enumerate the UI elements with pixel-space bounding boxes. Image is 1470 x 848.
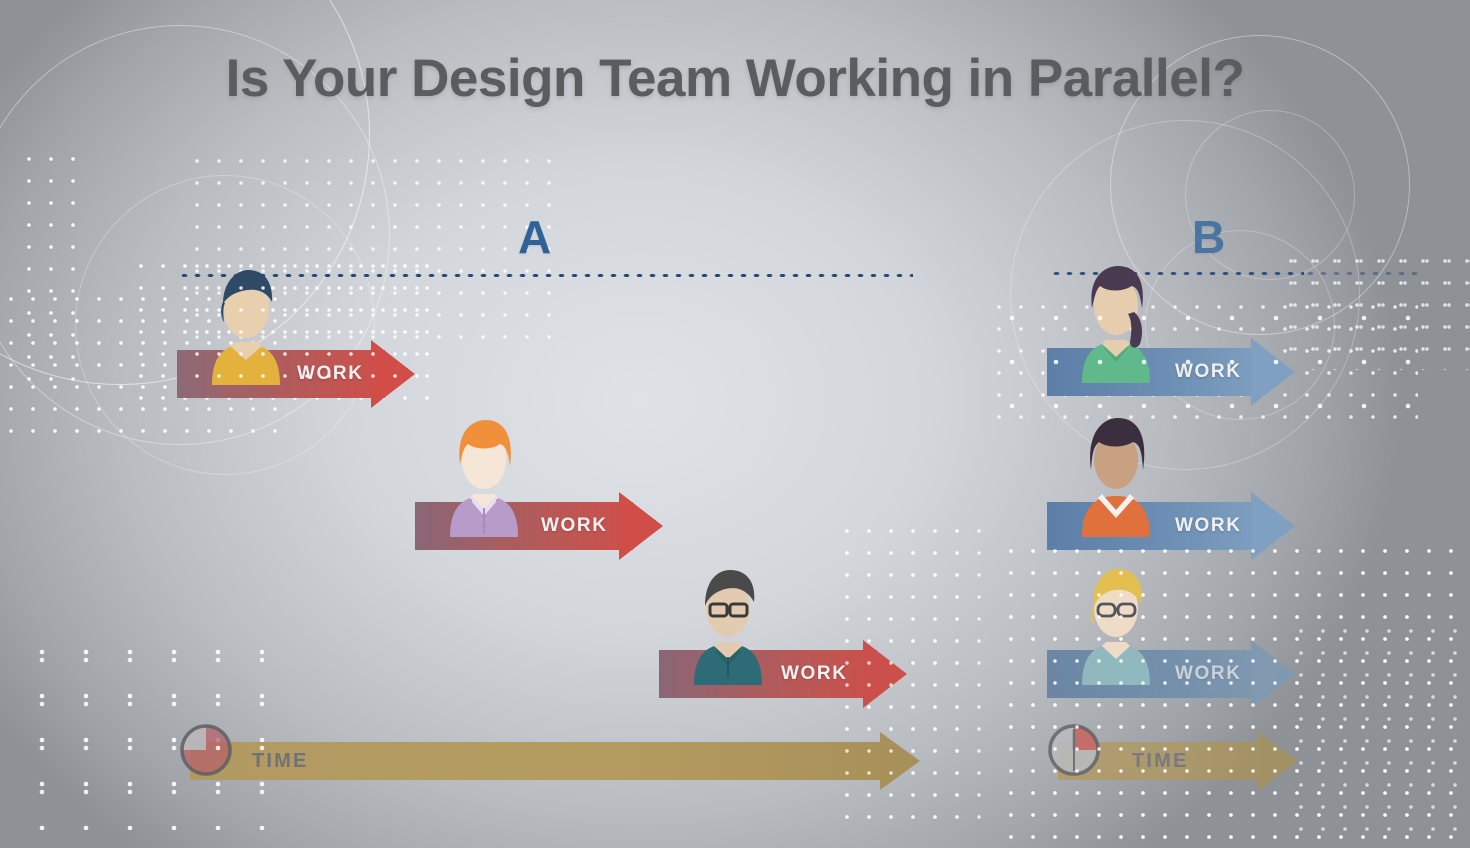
avatar-a1 bbox=[190, 260, 302, 385]
time-arrow-a: TIME bbox=[190, 742, 920, 780]
worker-row-b3: WORK bbox=[1060, 560, 1360, 690]
clock-icon-a bbox=[178, 722, 234, 778]
clock-icon-b bbox=[1046, 722, 1102, 778]
time-label: TIME bbox=[252, 742, 309, 780]
infographic-canvas: Is Your Design Team Working in Parallel?… bbox=[0, 0, 1470, 848]
avatar-b3 bbox=[1060, 560, 1172, 685]
work-label: WORK bbox=[1175, 502, 1242, 550]
worker-row-b2: WORK bbox=[1060, 412, 1360, 542]
dot-grid bbox=[18, 148, 84, 388]
work-label: WORK bbox=[297, 350, 364, 398]
avatar-b1 bbox=[1060, 258, 1172, 383]
avatar-b2 bbox=[1060, 412, 1172, 537]
worker-row-a3: WORK bbox=[672, 560, 1102, 690]
worker-row-a2: WORK bbox=[428, 412, 858, 542]
work-label: WORK bbox=[541, 502, 608, 550]
group-label-b: B bbox=[1192, 214, 1225, 260]
page-title: Is Your Design Team Working in Parallel? bbox=[0, 48, 1470, 109]
avatar-a2 bbox=[428, 412, 540, 537]
group-label-a: A bbox=[518, 214, 551, 260]
time-label: TIME bbox=[1132, 742, 1189, 780]
work-label: WORK bbox=[781, 650, 848, 698]
avatar-a3 bbox=[672, 560, 784, 685]
worker-row-b1: WORK bbox=[1060, 258, 1360, 388]
work-label: WORK bbox=[1175, 650, 1242, 698]
worker-row-a1: WORK bbox=[190, 260, 620, 390]
work-label: WORK bbox=[1175, 348, 1242, 396]
